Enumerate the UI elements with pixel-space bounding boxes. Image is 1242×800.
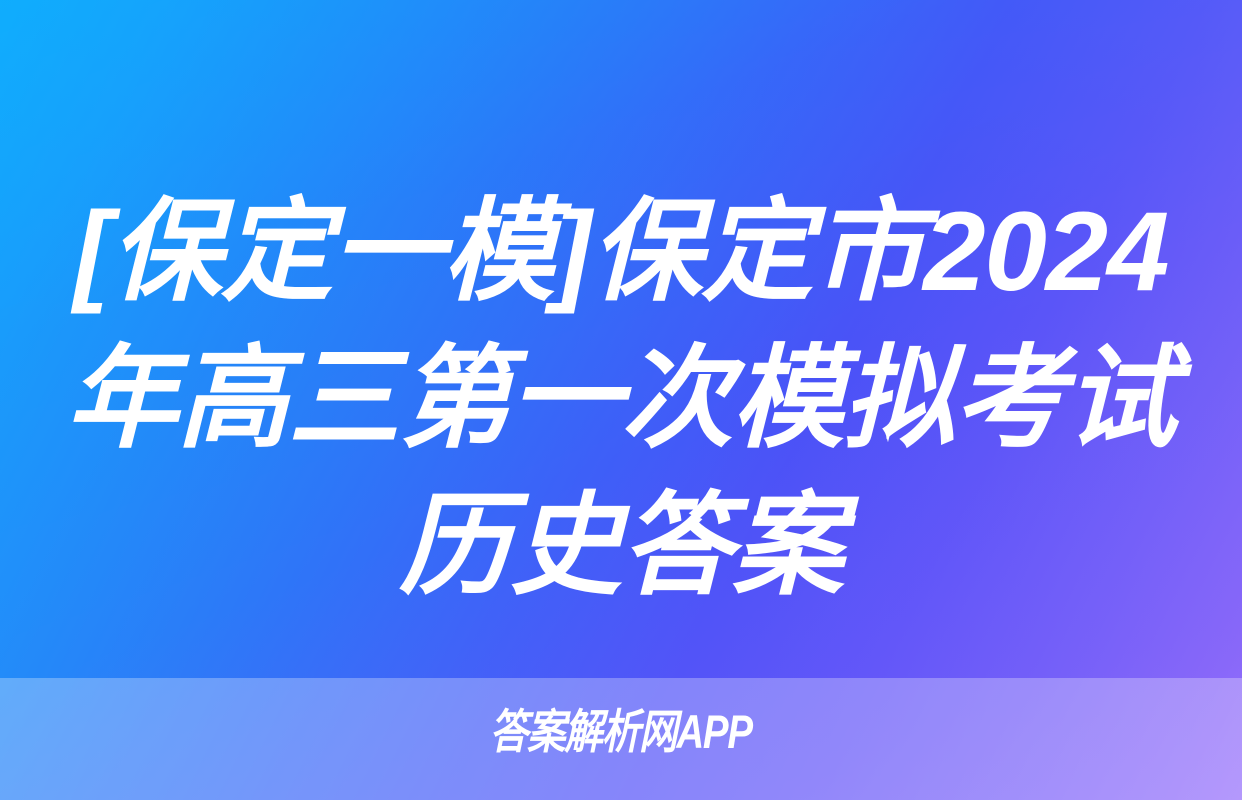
poster-canvas: [保定一模]保定市2024年高三第一次模拟考试历史答案 答案解析网APP [0,0,1242,800]
watermark: 答案解析网APP [0,700,1242,762]
page-title: [保定一模]保定市2024年高三第一次模拟考试历史答案 [58,178,1184,619]
watermark-label: 答案解析网APP [490,708,752,755]
title-block: [保定一模]保定市2024年高三第一次模拟考试历史答案 [0,178,1242,619]
